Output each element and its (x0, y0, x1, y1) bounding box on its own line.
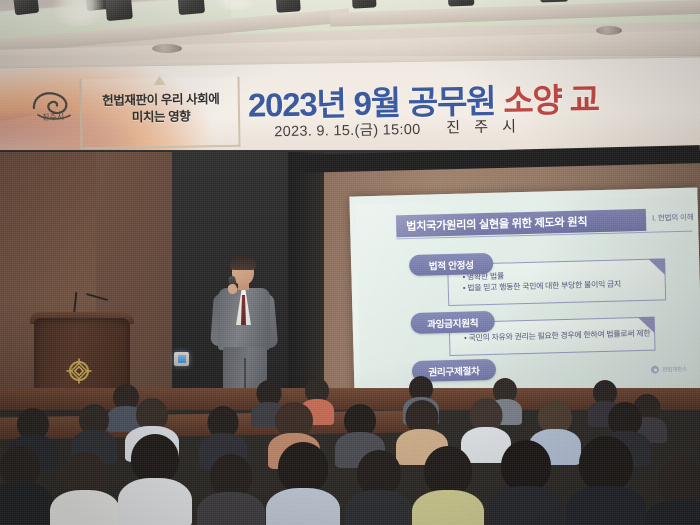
jinju-city-swirl-logo: 진주시 (30, 89, 77, 124)
presentation-slide: 법치국가원리의 실현을 위한 제도와 원칙 I. 헌법의 이해 법적 안정성 •… (356, 196, 698, 388)
ceiling-speaker (152, 44, 182, 53)
slide-title: 법치국가원리의 실현을 위한 제도와 원칙 (396, 213, 587, 234)
banner-city: 진 주 시 (446, 115, 521, 137)
ceiling-speaker (596, 26, 622, 35)
banner-main-title: 2023년 9월 공무원 소양 교 (247, 73, 599, 127)
switch-indicator-icon (178, 355, 186, 363)
banner-date: 2023. 9. 15.(금) 15:00 (274, 118, 421, 141)
banner-subtitle-line1: 헌법재판이 우리 사회에 (88, 91, 234, 110)
wall-light-switch[interactable] (174, 352, 189, 366)
audience-member (122, 434, 188, 525)
svg-text:진주시: 진주시 (42, 111, 64, 121)
audience-member (0, 446, 50, 525)
presenter-hair (230, 256, 256, 270)
audience-member (348, 450, 410, 525)
slide-pill-proportionality: 과잉금지원칙 (410, 311, 495, 334)
callout-fold-corner (648, 258, 665, 275)
slide-pill-legal-stability: 법적 안정성 (409, 253, 494, 276)
slide-chapter-label: I. 헌법의 이해 (652, 212, 694, 224)
audience-member (54, 452, 116, 525)
banner-title-red: 소양 교 (503, 81, 599, 119)
ceiling-spotlight (275, 0, 301, 13)
audience-member (570, 436, 642, 525)
screen-surface: 법치국가원리의 실현을 위한 제도와 원칙 I. 헌법의 이해 법적 안정성 •… (349, 187, 700, 401)
seated-audience (0, 380, 700, 525)
projection-screen: 법치국가원리의 실현을 위한 제도와 원칙 I. 헌법의 이해 법적 안정성 •… (349, 187, 700, 401)
audience-member (268, 442, 338, 525)
audience-member (492, 440, 560, 525)
ceiling-spotlight (177, 0, 205, 15)
banner-subtitle: 헌법재판이 우리 사회에 미치는 영향 (88, 91, 235, 127)
audience-member (200, 454, 262, 525)
audience-member (414, 446, 482, 525)
lecture-hall-photo: 진주시 헌법재판이 우리 사회에 미치는 영향 2023년 9월 공무원 소양 … (0, 0, 700, 525)
banner-subtitle-line2: 미치는 영향 (88, 108, 234, 127)
stage-edge-shadow (288, 152, 324, 402)
constitutional-court-logo: 헌법재판소 (651, 365, 687, 374)
ceiling-spotlight (351, 0, 376, 9)
logo-mark-icon (651, 366, 659, 374)
logo-text: 헌법재판소 (662, 365, 687, 374)
audience-member (648, 458, 700, 525)
ceiling-spotlight (448, 0, 475, 6)
